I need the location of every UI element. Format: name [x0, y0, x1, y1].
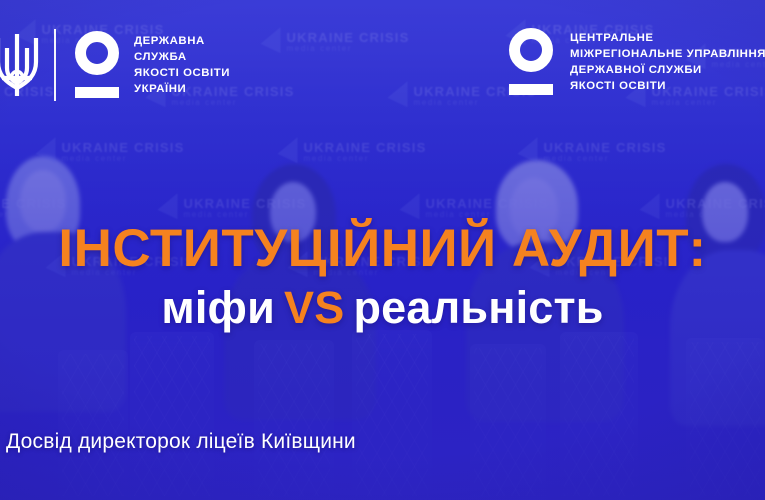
org-line: ЯКОСТІ ОСВІТИ	[134, 65, 230, 81]
org-line: ДЕРЖАВНА	[134, 33, 230, 49]
org-line: СЛУЖБА	[134, 49, 230, 65]
title-block: ІНСТИТУЦІЙНИЙ АУДИТ: міфиVSреальність	[0, 222, 765, 331]
page-title: ІНСТИТУЦІЙНИЙ АУДИТ:	[0, 222, 765, 276]
header-logos: ДЕРЖАВНА СЛУЖБА ЯКОСТІ ОСВІТИ УКРАЇНИ ЦЕ…	[0, 0, 765, 130]
page-subtitle: міфиVSреальність	[0, 284, 765, 331]
sqe-ring-mark-icon	[74, 31, 120, 99]
sqe-ring-mark-icon	[508, 28, 554, 96]
org-line: УКРАЇНИ	[134, 81, 230, 97]
footer-caption: Досвід директорок ліцеїв Київщини	[6, 430, 356, 454]
org-name-right: ЦЕНТРАЛЬНЕ МІЖРЕГІОНАЛЬНЕ УПРАВЛІННЯ ДЕР…	[570, 30, 765, 95]
subtitle-vs: VS	[284, 282, 344, 333]
org-line: ЯКОСТІ ОСВІТИ	[570, 78, 765, 94]
ukrainian-trident-icon	[0, 28, 46, 102]
logo-lockup-right: ЦЕНТРАЛЬНЕ МІЖРЕГІОНАЛЬНЕ УПРАВЛІННЯ ДЕР…	[508, 28, 765, 96]
video-thumbnail-slide: UKRAINE CRISISmedia center UKRAINE CRISI…	[0, 0, 765, 500]
org-line: МІЖРЕГІОНАЛЬНЕ УПРАВЛІННЯ	[570, 46, 765, 62]
org-line: ЦЕНТРАЛЬНЕ	[570, 30, 765, 46]
logo-lockup-left: ДЕРЖАВНА СЛУЖБА ЯКОСТІ ОСВІТИ УКРАЇНИ	[0, 28, 230, 102]
logo-divider	[54, 29, 56, 101]
org-name-left: ДЕРЖАВНА СЛУЖБА ЯКОСТІ ОСВІТИ УКРАЇНИ	[134, 33, 230, 98]
subtitle-part-2: реальність	[353, 282, 603, 333]
org-line: ДЕРЖАВНОЇ СЛУЖБИ	[570, 62, 765, 78]
subtitle-part-1: міфи	[161, 282, 275, 333]
